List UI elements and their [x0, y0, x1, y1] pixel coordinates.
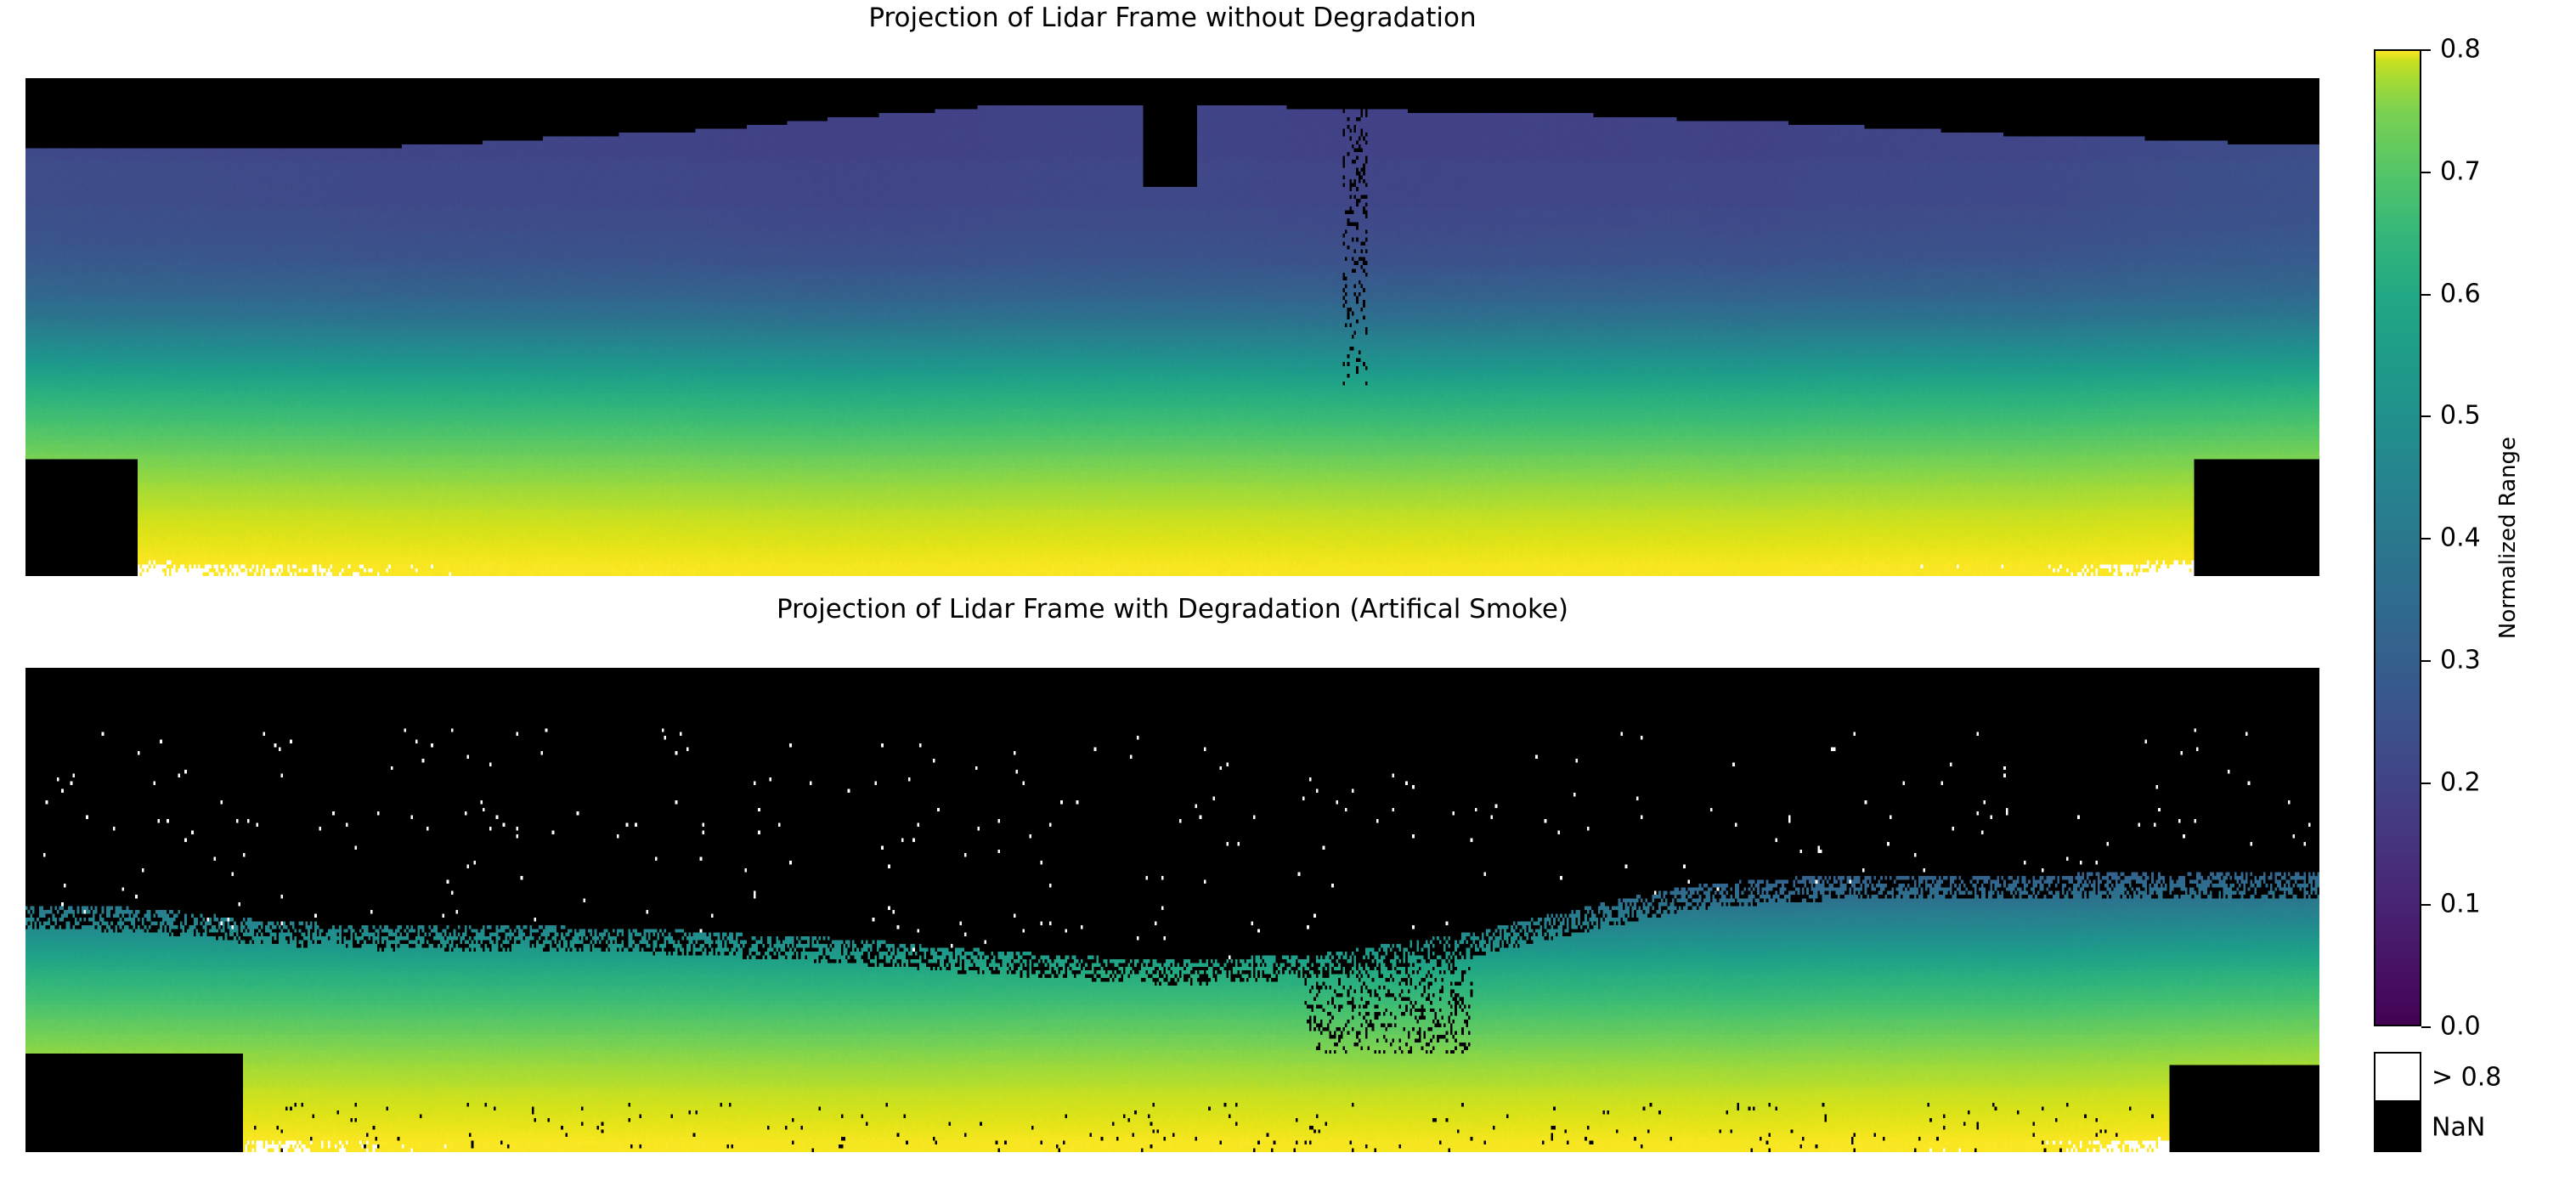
colorbar-tick-label: 0.1	[2440, 890, 2481, 919]
colorbar-tick-mark	[2421, 660, 2431, 662]
colorbar-tick-label: 0.6	[2440, 279, 2481, 308]
colorbar-tick-label: 0.8	[2440, 35, 2481, 65]
colorbar	[2374, 49, 2421, 1026]
colorbar-tick-label: 0.7	[2440, 156, 2481, 186]
lidar-heatmap-top	[25, 78, 2319, 576]
colorbar-tick-label: 0.5	[2440, 401, 2481, 431]
colorbar-tick-mark	[2421, 415, 2431, 417]
lidar-heatmap-bottom	[25, 668, 2319, 1152]
colorbar-tick-mark	[2421, 538, 2431, 540]
colorbar-tick-label: 0.2	[2440, 767, 2481, 797]
legend-swatch-over	[2374, 1052, 2421, 1102]
panel-title-bottom: Projection of Lidar Frame with Degradati…	[25, 596, 2319, 623]
lidar-projection-panel-top	[25, 78, 2319, 576]
colorbar-axis-label: Normalized Range	[2495, 437, 2521, 639]
colorbar-tick-label: 0.3	[2440, 645, 2481, 675]
legend-label-nan: NaN	[2432, 1113, 2485, 1143]
colorbar-tick-mark	[2421, 783, 2431, 784]
lidar-projection-panel-bottom	[25, 668, 2319, 1152]
special-value-legend	[2374, 1052, 2421, 1152]
colorbar-tick-mark	[2421, 294, 2431, 296]
colorbar-tick-label: 0.0	[2440, 1012, 2481, 1042]
colorbar-tick-mark	[2421, 1026, 2431, 1028]
colorbar-gradient	[2374, 49, 2421, 1026]
colorbar-tick-label: 0.4	[2440, 523, 2481, 553]
colorbar-tick-mark	[2421, 172, 2431, 173]
lidar-projection-figure: Projection of Lidar Frame without Degrad…	[0, 0, 2576, 1181]
colorbar-tick-mark	[2421, 904, 2431, 906]
panel-title-top: Projection of Lidar Frame without Degrad…	[25, 5, 2319, 31]
colorbar-tick-mark	[2421, 49, 2431, 51]
legend-label-over: > 0.8	[2432, 1063, 2501, 1093]
legend-swatch-nan	[2374, 1102, 2421, 1152]
